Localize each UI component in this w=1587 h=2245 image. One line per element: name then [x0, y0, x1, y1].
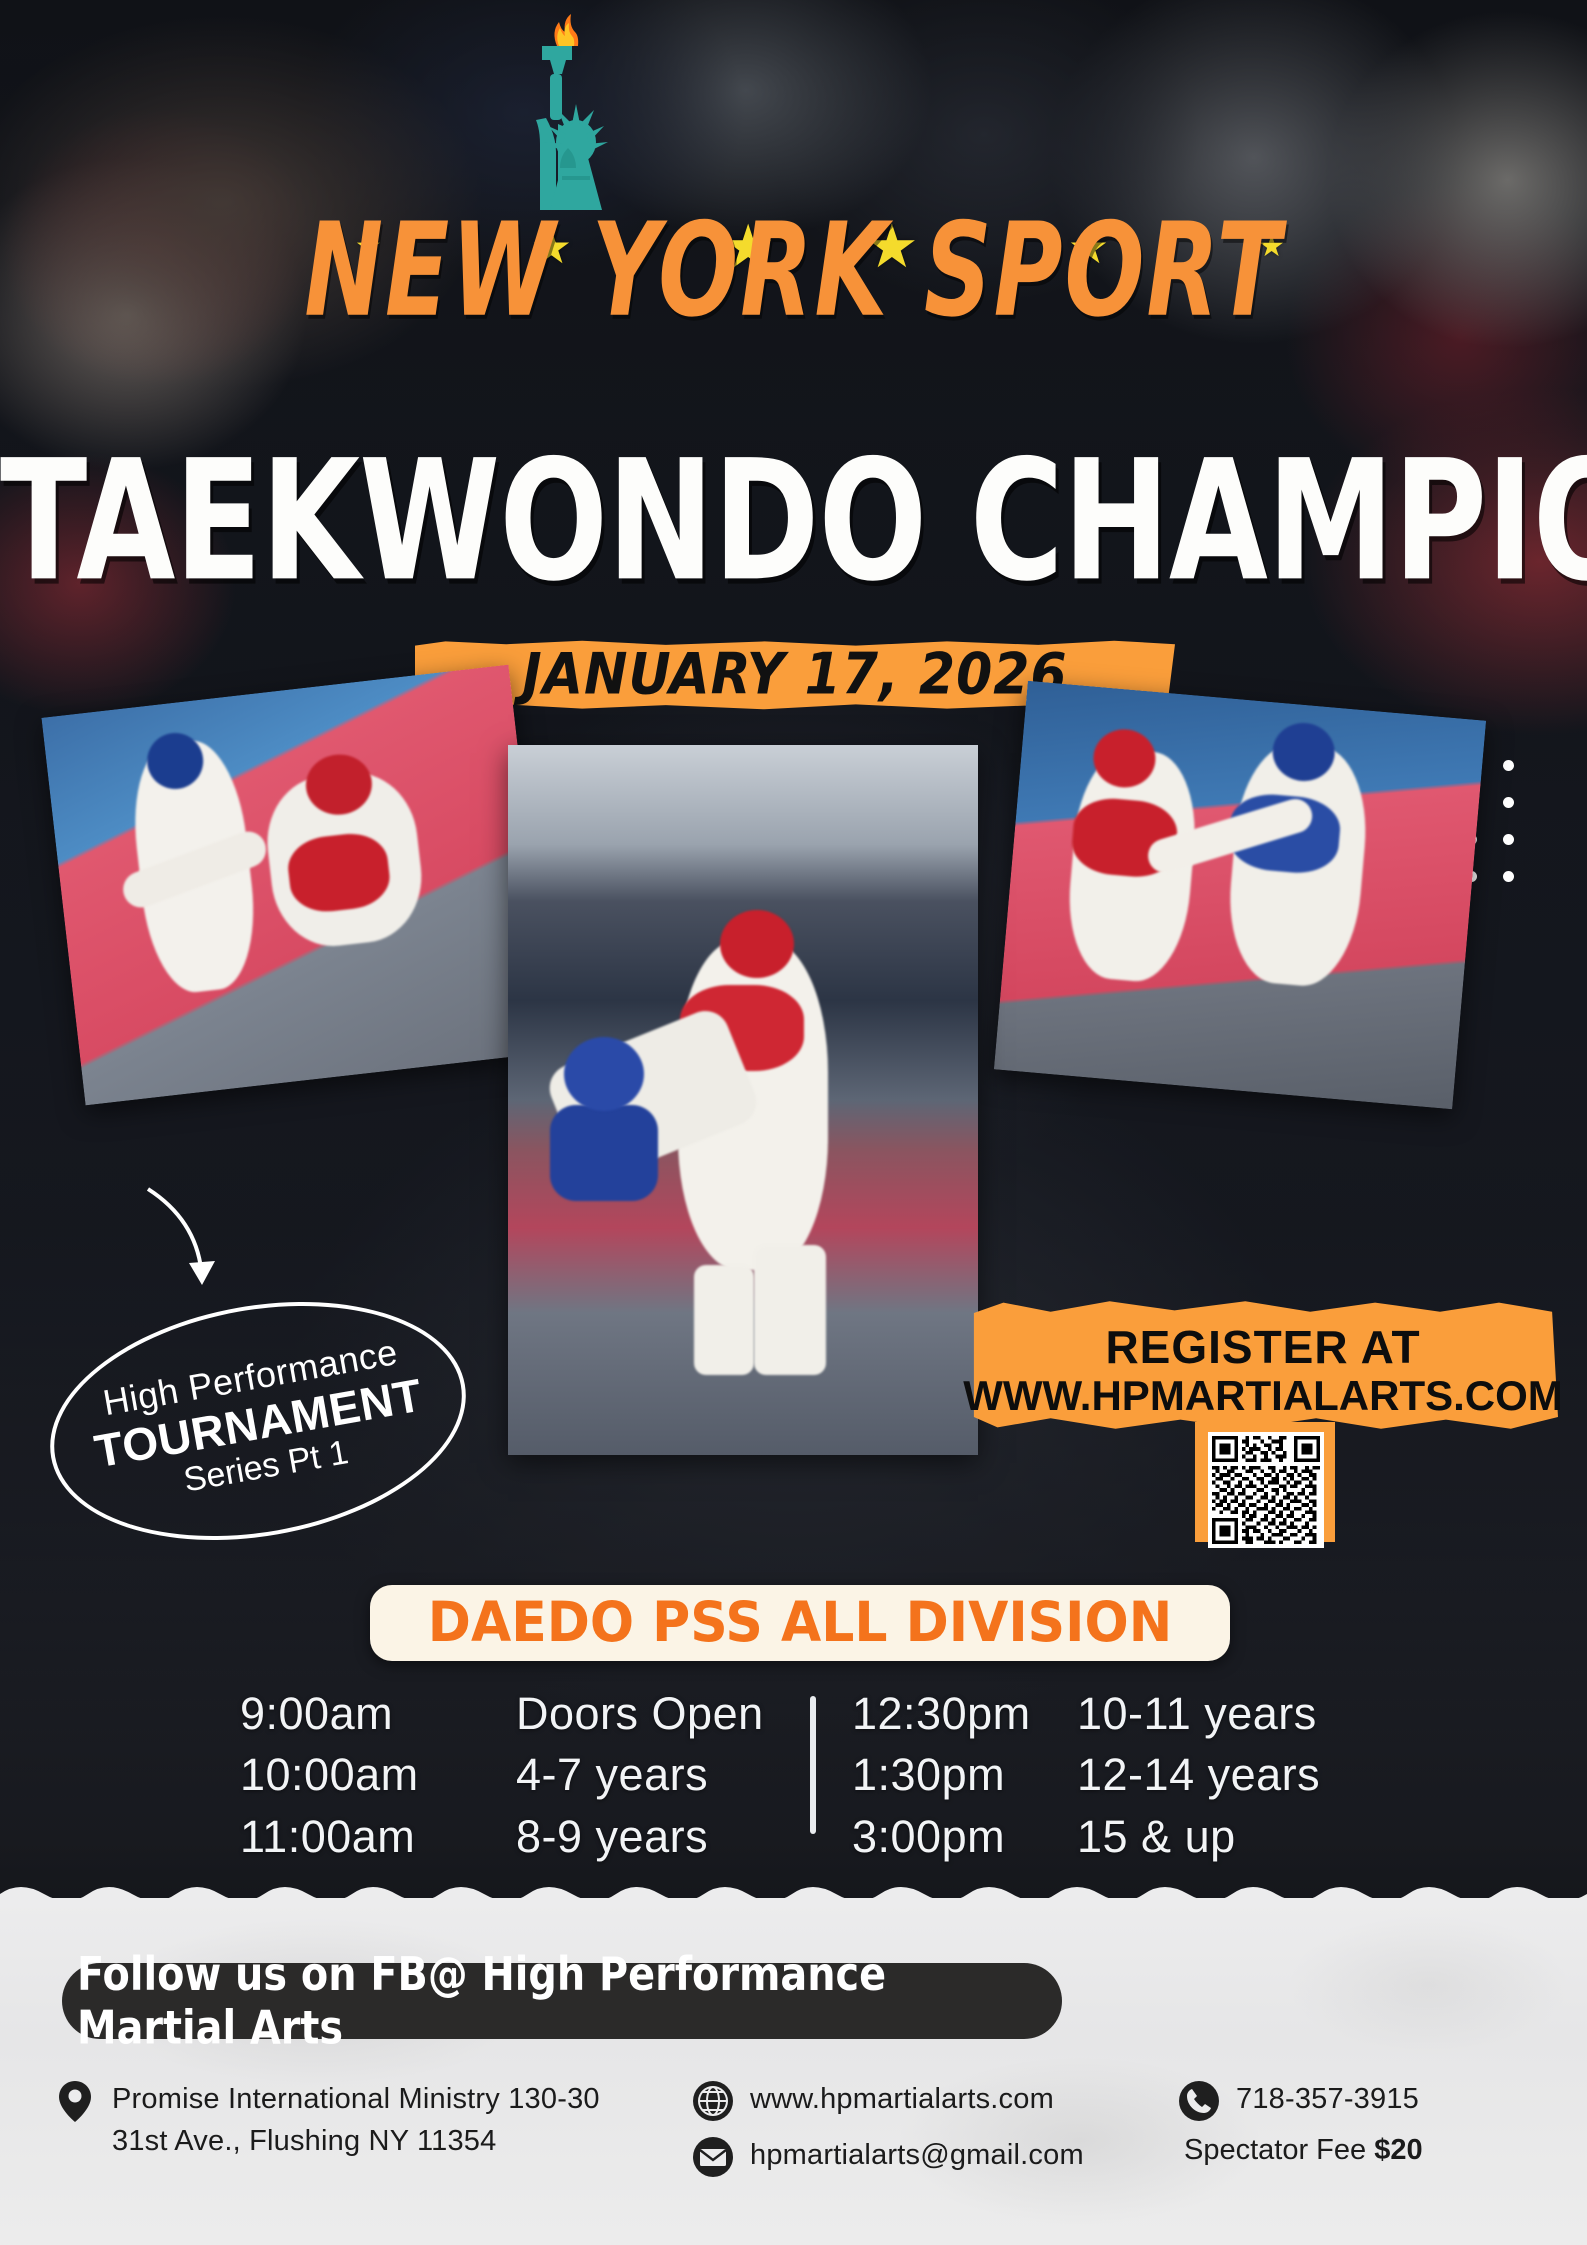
phone-icon: [1176, 2078, 1222, 2124]
schedule-group: Doors Open: [516, 1690, 766, 1737]
facebook-label: Follow us on FB@ High Performance Martia…: [77, 1947, 1047, 2055]
poster-root: ★ ★ ★ ★ ★ ★ NEW YORK SPORT TAEKWONDO CHA…: [0, 0, 1587, 2245]
curved-arrow-icon: [140, 1185, 240, 1295]
schedule-divider: [810, 1696, 816, 1834]
division-label: DAEDO PSS ALL DIVISION: [428, 1591, 1172, 1655]
email-text: hpmartialarts@gmail.com: [750, 2139, 1084, 2171]
schedule: 9:00am 10:00am 11:00am Doors Open 4-7 ye…: [0, 1690, 1587, 1860]
envelope-icon: [690, 2134, 736, 2180]
page-title: TAEKWONDO CHAMPIONSHIP: [0, 425, 1587, 619]
schedule-time: 12:30pm: [852, 1690, 1037, 1737]
spectator-fee: Spectator Fee $20: [1184, 2134, 1423, 2167]
spectator-fee-label: Spectator Fee: [1184, 2134, 1374, 2166]
schedule-column-left: 9:00am 10:00am 11:00am Doors Open 4-7 ye…: [240, 1690, 766, 1860]
schedule-group: 8-9 years: [516, 1813, 766, 1860]
eyebrow-title: NEW YORK SPORT: [32, 196, 1556, 346]
division-banner: DAEDO PSS ALL DIVISION: [370, 1585, 1230, 1661]
qr-code-icon[interactable]: [1208, 1432, 1324, 1548]
contact-phone: 718-357-3915 Spectator Fee $20: [1176, 2078, 1423, 2167]
globe-icon: [690, 2078, 736, 2124]
schedule-time: 9:00am: [240, 1690, 450, 1737]
photo-center-kick: [508, 745, 978, 1455]
schedule-time: 11:00am: [240, 1813, 450, 1860]
schedule-group: 10-11 years: [1077, 1690, 1347, 1737]
contact-web: www.hpmartialarts.com hpmartialarts@gmai…: [690, 2078, 1084, 2190]
phone-row[interactable]: 718-357-3915: [1176, 2078, 1423, 2124]
register-url[interactable]: WWW.HPMARTIALARTS.COM: [953, 1372, 1573, 1420]
address-line-1: Promise International Ministry 130-30: [112, 2078, 600, 2120]
schedule-time: 1:30pm: [852, 1751, 1037, 1798]
schedule-group: 12-14 years: [1077, 1751, 1347, 1798]
torn-edge-divider: [0, 1872, 1587, 1908]
website-row[interactable]: www.hpmartialarts.com: [690, 2078, 1084, 2124]
contact-address: Promise International Ministry 130-30 31…: [52, 2078, 600, 2162]
phone-text: 718-357-3915: [1236, 2083, 1419, 2115]
website-text: www.hpmartialarts.com: [750, 2083, 1054, 2115]
address-line-2: 31st Ave., Flushing NY 11354: [112, 2120, 600, 2162]
schedule-time: 10:00am: [240, 1751, 450, 1798]
photo-right-high-kick: [994, 681, 1486, 1110]
facebook-banner[interactable]: Follow us on FB@ High Performance Martia…: [62, 1963, 1062, 2039]
photo-left-sparring: [41, 665, 552, 1106]
spectator-fee-price: $20: [1374, 2134, 1422, 2166]
register-label: REGISTER AT: [968, 1320, 1558, 1374]
schedule-column-right: 12:30pm 1:30pm 3:00pm 10-11 years 12-14 …: [852, 1690, 1347, 1860]
statue-of-liberty-icon: [488, 0, 628, 210]
contact-strip: Promise International Ministry 130-30 31…: [0, 2072, 1587, 2222]
map-pin-icon: [52, 2078, 98, 2124]
email-row[interactable]: hpmartialarts@gmail.com: [690, 2134, 1084, 2180]
schedule-group: 15 & up: [1077, 1813, 1347, 1860]
schedule-group: 4-7 years: [516, 1751, 766, 1798]
schedule-time: 3:00pm: [852, 1813, 1037, 1860]
